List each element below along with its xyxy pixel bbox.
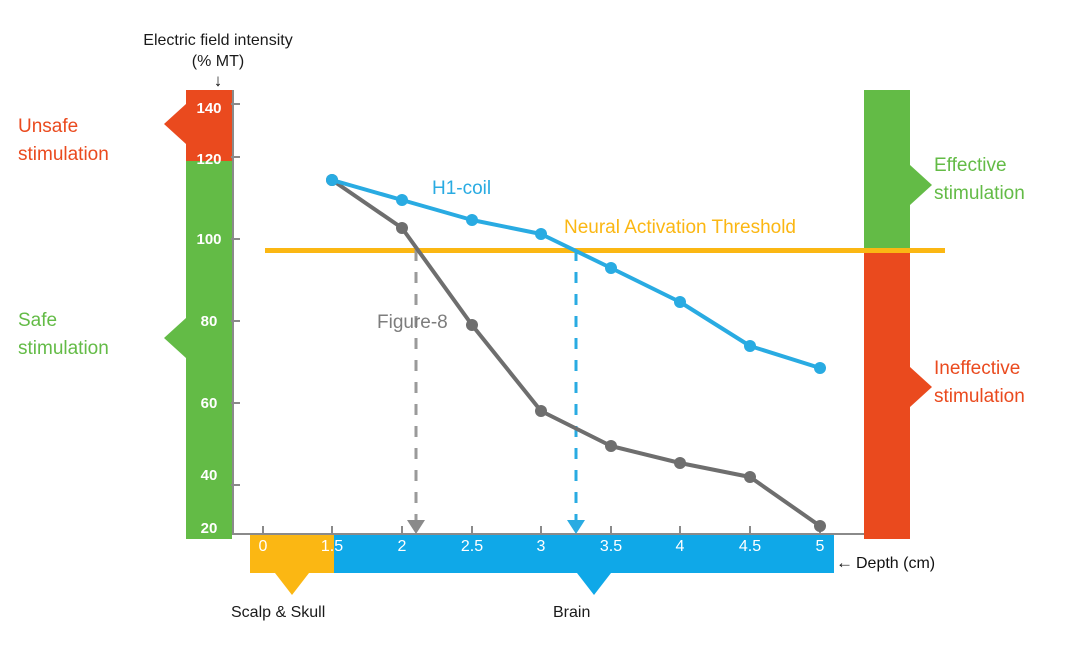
- effective-stimulation-label: Effective stimulation: [934, 152, 1080, 208]
- y-tick-label-140: 140: [186, 100, 232, 117]
- depth-tick-label-4-5: 4.5: [733, 538, 767, 556]
- depth-scale-bar: 0 1.5 2 2.5 3 3.5 4 4.5 5: [250, 535, 834, 573]
- y-axis-caption-line2: (% MT): [118, 51, 318, 72]
- safe-stimulation-label: Safe stimulation: [18, 307, 178, 363]
- depth-tick-label-5: 5: [803, 538, 837, 556]
- scalp-pointer-icon: [275, 573, 309, 595]
- y-tick-label-20: 20: [186, 520, 232, 537]
- safe-label-line2: stimulation: [18, 335, 178, 363]
- depth-axis-label: ←Depth (cm): [836, 553, 935, 573]
- y-tick-label-80: 80: [186, 313, 232, 330]
- safe-label-line1: Safe: [18, 307, 178, 335]
- plot-area: H1-coil Figure-8 Neural Activation Thres…: [232, 90, 864, 539]
- y-tick-label-100: 100: [186, 231, 232, 248]
- effective-label-line2: stimulation: [934, 180, 1080, 208]
- h1coil-crossing-guide: [567, 250, 585, 534]
- ineffective-label-line1: Ineffective: [934, 355, 1080, 383]
- unsafe-label-line1: Unsafe: [18, 113, 178, 141]
- y-axis-caption-line1: Electric field intensity: [118, 30, 318, 51]
- effective-pointer-icon: [910, 165, 932, 205]
- depth-tick-label-0: 0: [246, 538, 280, 556]
- ineffective-region-band: [864, 250, 910, 539]
- effectiveness-scale-bar: [864, 90, 910, 539]
- unsafe-label-line2: stimulation: [18, 141, 178, 169]
- y-tick-label-60: 60: [186, 395, 232, 412]
- series-canvas: [232, 90, 864, 539]
- y-tick-label-120: 120: [186, 151, 232, 168]
- x-axis-ticks: [263, 526, 820, 533]
- brain-label: Brain: [553, 604, 590, 622]
- depth-axis-text: Depth (cm): [856, 555, 935, 572]
- safety-scale-bar: 140 120 100 80 60 40 20: [186, 90, 232, 539]
- figure8-crossing-guide: [407, 250, 425, 534]
- effective-region-band: [864, 90, 910, 250]
- threshold-label: Neural Activation Threshold: [564, 217, 796, 239]
- depth-tick-label-2-5: 2.5: [455, 538, 489, 556]
- depth-tick-label-2: 2: [385, 538, 419, 556]
- effective-label-line1: Effective: [934, 152, 1080, 180]
- left-arrow-icon: ←: [836, 553, 853, 572]
- ineffective-stimulation-label: Ineffective stimulation: [934, 355, 1080, 411]
- unsafe-stimulation-label: Unsafe stimulation: [18, 113, 178, 169]
- depth-tick-label-3-5: 3.5: [594, 538, 628, 556]
- h1coil-series-label: H1-coil: [432, 178, 491, 200]
- depth-tick-label-1-5: 1.5: [315, 538, 349, 556]
- scalp-skull-label: Scalp & Skull: [231, 604, 325, 622]
- y-axis-caption: Electric field intensity (% MT) ↓: [118, 30, 318, 89]
- ineffective-pointer-icon: [910, 367, 932, 407]
- down-arrow-icon: ↓: [118, 73, 318, 89]
- y-tick-label-40: 40: [186, 467, 232, 484]
- brain-pointer-icon: [577, 573, 611, 595]
- depth-tick-label-4: 4: [663, 538, 697, 556]
- ineffective-label-line2: stimulation: [934, 383, 1080, 411]
- figure8-series-label: Figure-8: [377, 312, 448, 334]
- depth-tick-label-3: 3: [524, 538, 558, 556]
